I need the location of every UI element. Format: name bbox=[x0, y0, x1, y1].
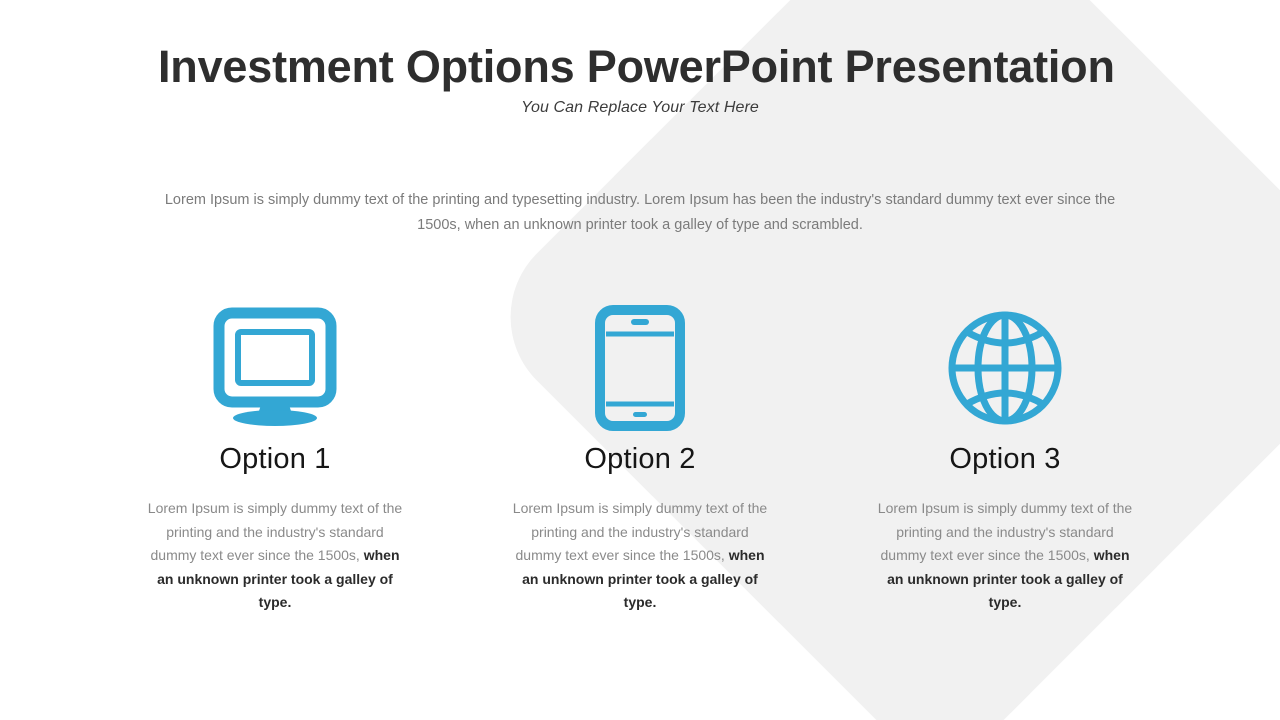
slide-intro-paragraph: Lorem Ipsum is simply dummy text of the … bbox=[150, 188, 1130, 238]
smartphone-icon-container bbox=[594, 300, 686, 435]
globe-icon bbox=[945, 308, 1065, 428]
slide-subtitle: You Can Replace Your Text Here bbox=[0, 99, 1280, 117]
option-title-2: Option 2 bbox=[584, 441, 695, 477]
option-column-1[interactable]: Option 1 Lorem Ipsum is simply dummy tex… bbox=[105, 300, 445, 615]
slide-canvas: Investment Options PowerPoint Presentati… bbox=[0, 0, 1280, 720]
options-row: Option 1 Lorem Ipsum is simply dummy tex… bbox=[105, 300, 1175, 615]
smartphone-icon bbox=[594, 305, 686, 431]
globe-icon-container bbox=[945, 300, 1065, 435]
monitor-icon bbox=[212, 307, 338, 429]
monitor-icon-container bbox=[212, 300, 338, 435]
option-title-1: Option 1 bbox=[219, 441, 330, 477]
option-body-2: Lorem Ipsum is simply dummy text of the … bbox=[510, 497, 770, 615]
option-column-2[interactable]: Option 2 Lorem Ipsum is simply dummy tex… bbox=[470, 300, 810, 615]
option-title-3: Option 3 bbox=[949, 441, 1060, 477]
option-body-3: Lorem Ipsum is simply dummy text of the … bbox=[875, 497, 1135, 615]
option-column-3[interactable]: Option 3 Lorem Ipsum is simply dummy tex… bbox=[835, 300, 1175, 615]
slide-title: Investment Options PowerPoint Presentati… bbox=[158, 41, 1158, 93]
option-body-1: Lorem Ipsum is simply dummy text of the … bbox=[145, 497, 405, 615]
